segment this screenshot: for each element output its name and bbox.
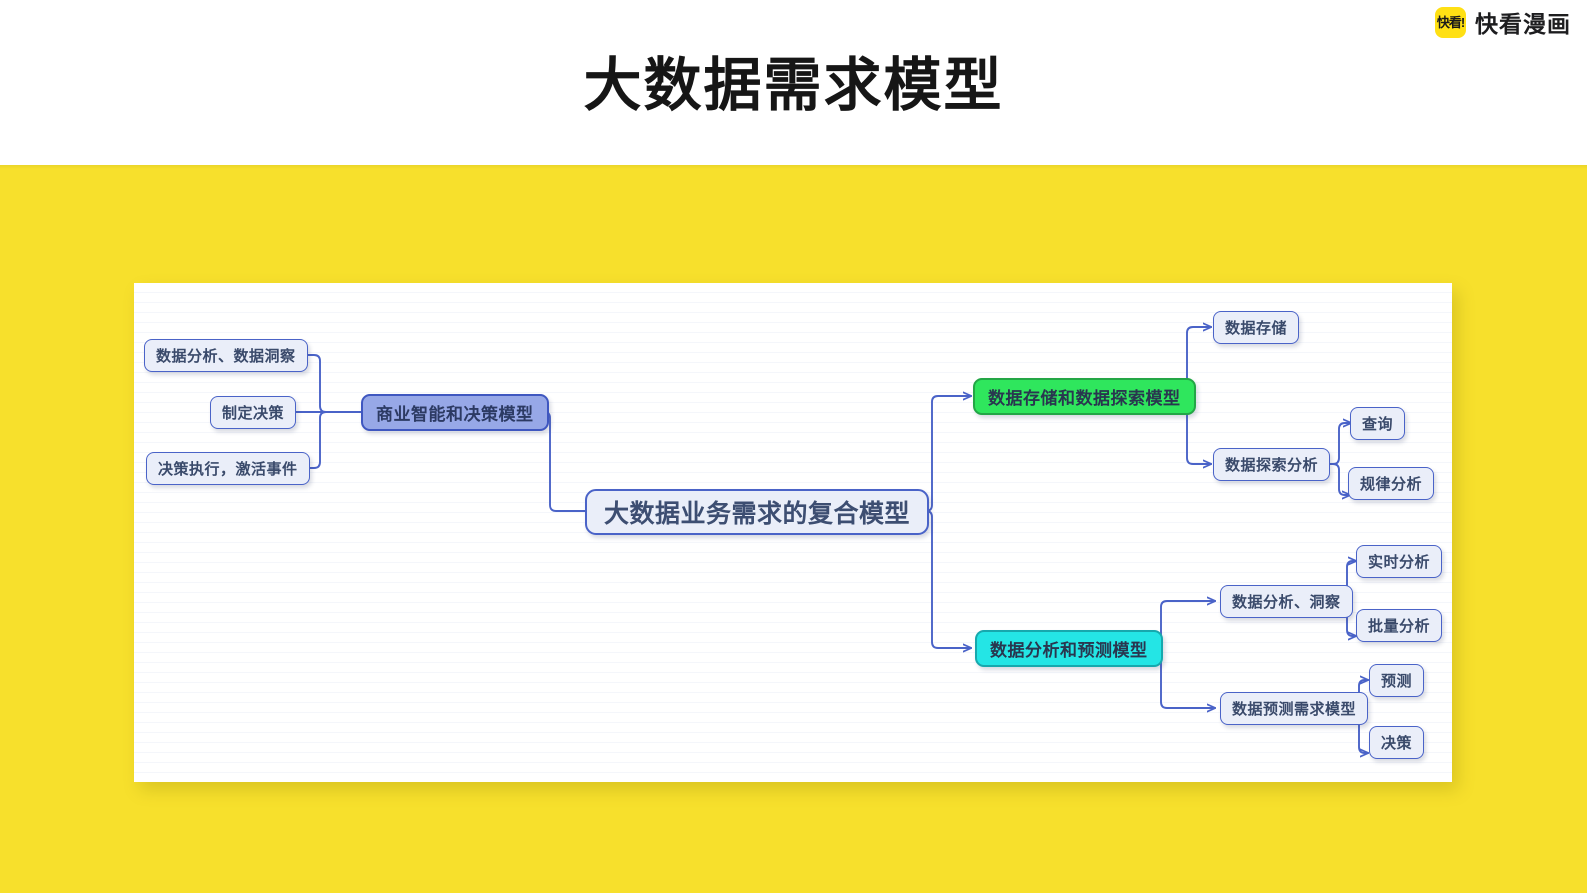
- node-leaf-make-decision[interactable]: 制定决策: [210, 396, 296, 429]
- slide-root: 快看! 快看漫画 大数据需求模型: [0, 0, 1587, 893]
- node-leaf-query[interactable]: 查询: [1350, 407, 1405, 440]
- slide-header: 快看! 快看漫画 大数据需求模型: [0, 0, 1587, 165]
- page-title: 大数据需求模型: [0, 38, 1587, 122]
- node-leaf-batch-analysis[interactable]: 批量分析: [1356, 609, 1442, 642]
- node-leaf-data-analysis-insight-2[interactable]: 数据分析、洞察: [1220, 585, 1353, 618]
- node-branch-data-storage-exploration[interactable]: 数据存储和数据探索模型: [973, 378, 1196, 415]
- node-leaf-decision-execution[interactable]: 决策执行，激活事件: [146, 452, 310, 485]
- node-root[interactable]: 大数据业务需求的复合模型: [585, 489, 929, 535]
- node-leaf-realtime-analysis[interactable]: 实时分析: [1356, 545, 1442, 578]
- kuaikan-mark-icon: 快看!: [1435, 7, 1466, 38]
- node-leaf-decision[interactable]: 决策: [1369, 726, 1424, 759]
- node-branch-data-analysis-prediction[interactable]: 数据分析和预测模型: [975, 630, 1163, 667]
- node-leaf-data-analysis-insight[interactable]: 数据分析、数据洞察: [144, 339, 308, 372]
- node-leaf-data-storage[interactable]: 数据存储: [1213, 311, 1299, 344]
- stage-top-shadow: [0, 165, 1587, 169]
- brand-name: 快看漫画: [1475, 5, 1571, 39]
- brand-logo: 快看! 快看漫画: [1435, 5, 1571, 39]
- node-branch-business-intelligence[interactable]: 商业智能和决策模型: [361, 394, 549, 431]
- node-leaf-data-prediction-demand-model[interactable]: 数据预测需求模型: [1220, 692, 1368, 725]
- node-leaf-pattern-analysis[interactable]: 规律分析: [1348, 467, 1434, 500]
- node-leaf-data-exploration-analysis[interactable]: 数据探索分析: [1213, 448, 1330, 481]
- node-leaf-prediction[interactable]: 预测: [1369, 664, 1424, 697]
